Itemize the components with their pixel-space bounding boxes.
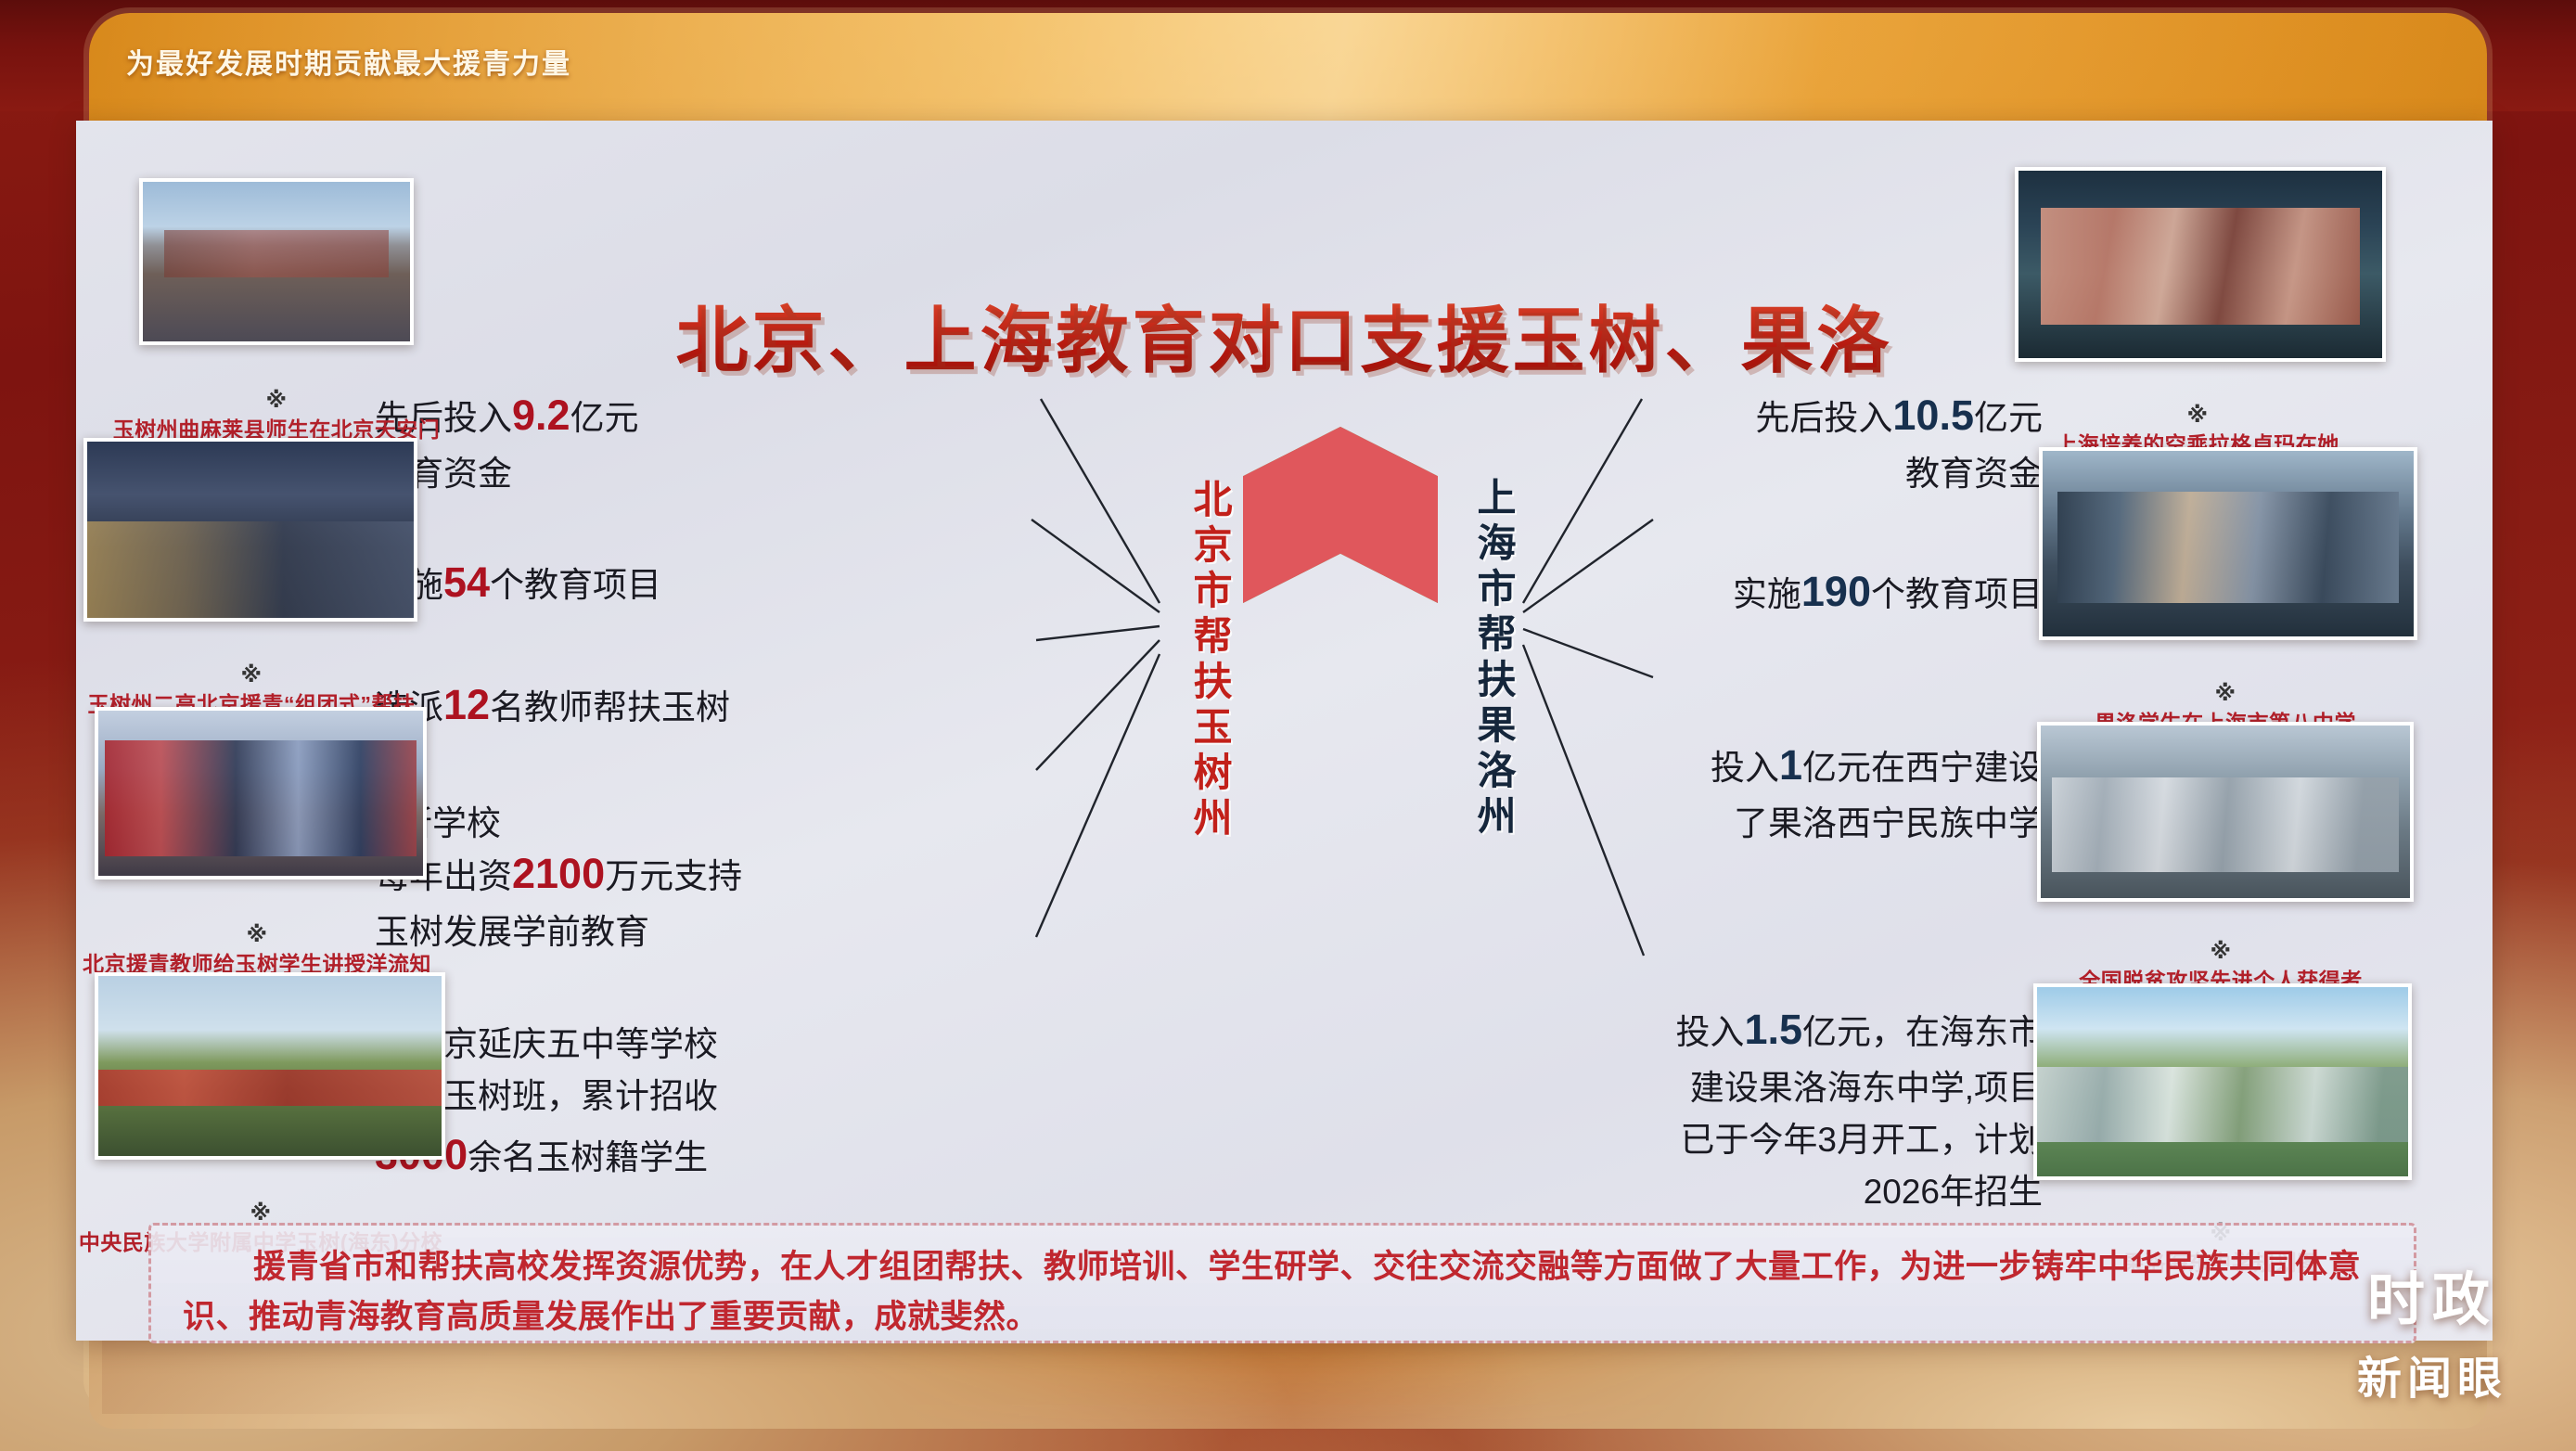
photo-left-3 — [95, 707, 427, 880]
summary-text: 援青省市和帮扶高校发挥资源优势，在人才组团帮扶、教师培训、学生研学、交往交流交融… — [183, 1242, 2382, 1343]
photo-left-4 — [95, 972, 445, 1160]
photo-left-1 — [139, 178, 414, 345]
fact-right-2-num: 190 — [1801, 568, 1871, 615]
caption-mark: ※ — [2215, 681, 2236, 705]
watermark-line-2: 新闻眼 — [2357, 1342, 2507, 1406]
caption-mark: ※ — [250, 1201, 272, 1225]
photo-right-3-image — [2041, 725, 2410, 898]
photo-left-1-image — [143, 182, 410, 341]
fact-right-4-pre: 投入 — [1675, 1013, 1744, 1051]
fact-left-5-num: 2100 — [512, 850, 605, 897]
photo-right-2-image — [2043, 451, 2414, 636]
caption-mark: ※ — [266, 388, 288, 412]
screenshot-root: 为最好发展时期贡献最大援青力量 北京、上海教育对口支援玉树、果洛 — [0, 0, 2576, 1451]
fact-right-1-num: 10.5 — [1892, 392, 1974, 439]
fact-right-3-pre: 投入 — [1711, 749, 1779, 787]
caption-mark: ※ — [241, 662, 263, 687]
photo-right-4 — [2033, 983, 2412, 1180]
watermark: 时政 新闻眼 — [2357, 1252, 2507, 1406]
photo-left-4-image — [98, 976, 442, 1156]
fact-left-2-num: 54 — [443, 559, 490, 606]
photo-right-1-image — [2019, 171, 2382, 358]
fact-left-2-post: 个教育项目 — [490, 566, 661, 604]
fact-left-1-num: 9.2 — [512, 392, 570, 439]
photo-right-1 — [2015, 167, 2386, 362]
watermark-line-1: 时政 — [2357, 1252, 2507, 1336]
poster-panel: 北京、上海教育对口支援玉树、果洛 北京市帮扶玉树州 上海市帮 — [76, 121, 2493, 1341]
photo-left-2-image — [87, 442, 414, 618]
fact-right-1-pre: 先后投入 — [1755, 399, 1892, 437]
header-band: 为最好发展时期贡献最大援青力量 — [89, 41, 2487, 89]
center-label-beijing: 北京市帮扶玉树州 — [1163, 479, 1232, 842]
photo-right-3 — [2037, 722, 2414, 902]
photo-right-2 — [2039, 447, 2417, 640]
photo-right-4-image — [2037, 987, 2408, 1176]
center-label-shanghai: 上海市帮扶果洛州 — [1447, 477, 1516, 841]
caption-mark: ※ — [247, 922, 268, 946]
chevron-stack — [1243, 427, 1438, 1234]
fact-right-4-num: 1.5 — [1744, 1006, 1802, 1053]
fact-right-2-post: 个教育项目 — [1871, 575, 2043, 613]
fact-left-3-num: 12 — [443, 681, 490, 728]
fact-left-3-post: 名教师帮扶玉树 — [490, 688, 730, 726]
photo-left-3-image — [98, 711, 423, 876]
caption-mark: ※ — [2211, 939, 2232, 963]
fact-right-3-num: 1 — [1779, 741, 1802, 789]
fact-right-2-pre: 实施 — [1733, 575, 1801, 613]
fact-left-6-post: 余名玉树籍学生 — [468, 1138, 708, 1176]
fact-left-2: 实施54个教育项目 — [375, 499, 764, 615]
photo-left-2 — [83, 438, 417, 622]
caption-mark: ※ — [2187, 403, 2209, 427]
summary-box: 援青省市和帮扶高校发挥资源优势，在人才组团帮扶、教师培训、学生研学、交往交流交融… — [148, 1223, 2416, 1343]
fact-right-3: 投入1亿元在西宁建设 了果洛西宁民族中学 — [1634, 682, 2043, 850]
header-title: 为最好发展时期贡献最大援青力量 — [126, 41, 571, 82]
chevron-5 — [1243, 427, 1438, 603]
fact-right-2: 实施190个教育项目 — [1644, 508, 2043, 624]
fact-right-4: 投入1.5亿元，在海东市 建设果洛海东中学,项目 已于今年3月开工，计划 202… — [1616, 946, 2043, 1218]
